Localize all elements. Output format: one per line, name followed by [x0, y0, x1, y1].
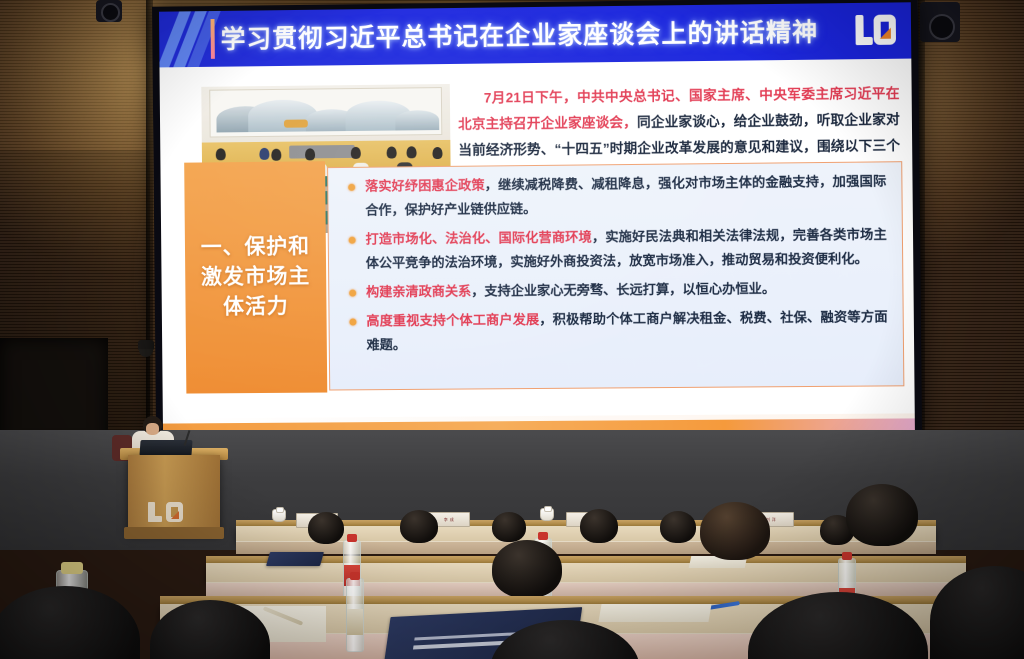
list-item: 高度重视支持个体工商户发展，积极帮助个体工商户解决租金、税费、社保、融资等方面难…	[346, 305, 888, 357]
bullet-highlight: 落实好纾困惠企政策	[365, 178, 485, 194]
bullet-dot-icon	[349, 318, 356, 325]
presentation-slide: 学习贯彻习近平总书记在企业家座谈会上的讲话精神	[159, 2, 915, 437]
podium-logo-icon	[148, 500, 194, 526]
slide-title: 学习贯彻习近平总书记在企业家座谈会上的讲话精神	[220, 12, 818, 55]
audience-head	[308, 512, 344, 544]
projection-screen: 学习贯彻习近平总书记在企业家座谈会上的讲话精神	[152, 0, 922, 445]
screenshot-root: 学习贯彻习近平总书记在企业家座谈会上的讲话精神	[0, 0, 1024, 659]
water-bottle	[346, 578, 364, 652]
list-item: 打造市场化、法治化、国际化营商环境，实施好民法典和相关法律法规，完善各类市场主体…	[346, 223, 888, 276]
presenter-face	[146, 423, 159, 435]
teacup	[540, 508, 554, 521]
wall-camera	[138, 340, 154, 351]
paper-sheet	[598, 604, 711, 622]
section-label-block: 一、保护和激发市场主体活力	[184, 161, 327, 393]
lg-logo-icon	[854, 10, 897, 51]
bullet-dot-icon	[348, 184, 355, 191]
bullet-highlight: 打造市场化、法治化、国际化营商环境	[366, 229, 592, 246]
list-item: 落实好纾困惠企政策，继续减税降费、减租降息，强化对市场主体的金融支持，加强国际合…	[345, 169, 887, 222]
title-accent-bar	[211, 19, 215, 59]
audience-head	[400, 510, 438, 543]
audience-head	[660, 511, 696, 543]
audience-head	[492, 512, 526, 542]
audience-head	[846, 484, 918, 546]
podium-base	[124, 527, 224, 539]
audience-head	[580, 509, 618, 543]
bullet-highlight: 高度重视支持个体工商户发展	[366, 312, 539, 328]
audience-head	[700, 502, 770, 560]
bullet-rest: ，支持企业家心无旁骛、长远打算，以恒心办恒业。	[471, 281, 775, 299]
bullet-dot-icon	[349, 290, 356, 297]
list-item: 构建亲清政商关系，支持企业家心无旁骛、长远打算，以恒心办恒业。	[346, 276, 887, 305]
booklet	[266, 552, 324, 566]
slide-title-bar: 学习贯彻习近平总书记在企业家座谈会上的讲话精神	[159, 2, 911, 67]
ceiling-spotlight-right	[920, 2, 960, 42]
teacup	[272, 509, 286, 522]
bullet-list: 落实好纾困惠企政策，继续减税降费、减租降息，强化对市场主体的金融支持，加强国际合…	[345, 169, 888, 362]
mural-landscape	[209, 87, 442, 137]
bullet-highlight: 构建亲清政商关系	[366, 284, 471, 300]
section-label-text: 一、保护和激发市场主体活力	[197, 232, 315, 323]
audience-head	[492, 540, 562, 598]
bullet-dot-icon	[349, 237, 356, 244]
ceiling-spotlight-left	[96, 0, 122, 22]
